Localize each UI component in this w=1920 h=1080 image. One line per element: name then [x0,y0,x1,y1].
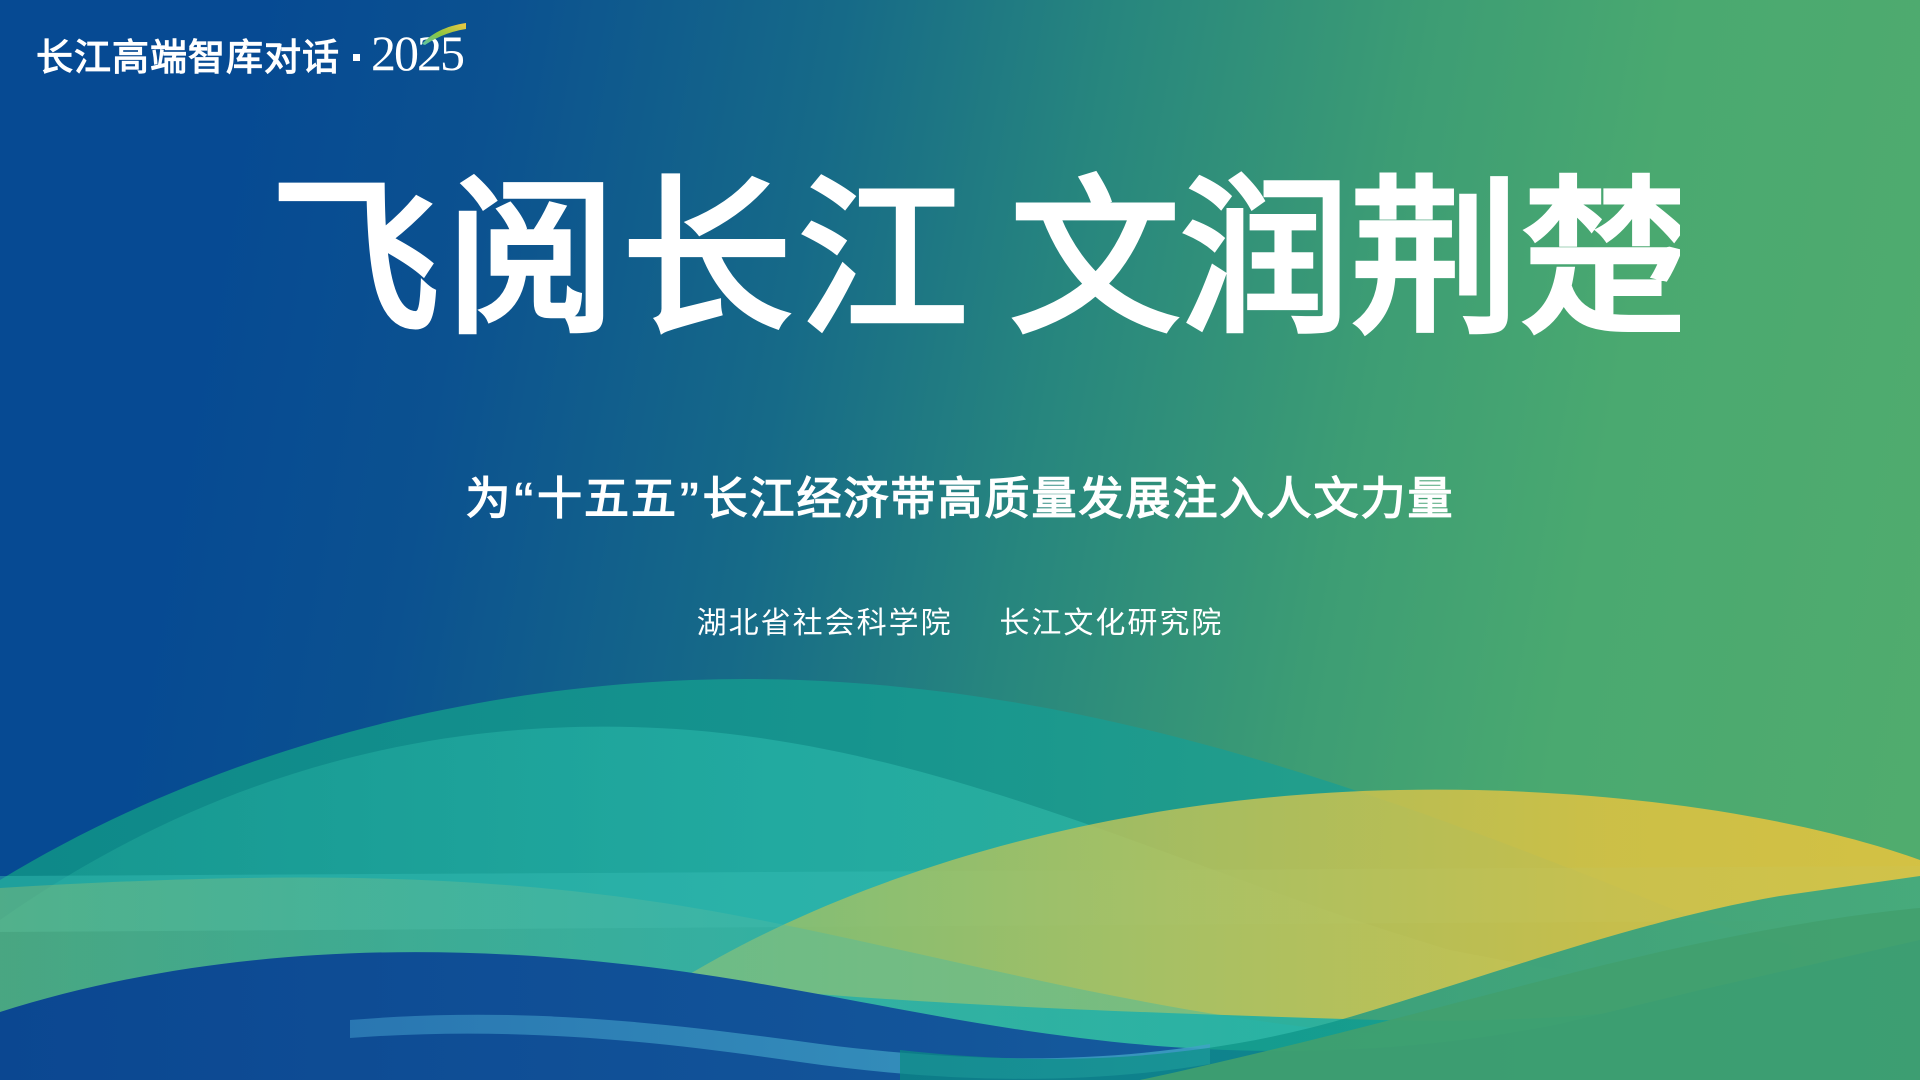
event-series-lockup: 长江高端智库对话 2025 [36,28,463,78]
calligraphy-artwork: 飞阅长江 文润荆楚 [240,150,1680,365]
event-year: 2025 [371,25,463,81]
main-title-calligraphy: 飞阅长江 文润荆楚 [0,150,1920,370]
wave-decoration [0,620,1920,1080]
calligraphy-group-b: 文润荆楚 [1010,159,1680,359]
wave-front-blue [0,940,1920,1080]
calligraphy-group-a: 飞阅长江 [270,159,974,359]
event-series-label: 长江高端智库对话 [36,39,340,76]
event-year-block: 2025 [371,28,463,78]
wave-back-teal [0,679,1920,1080]
subtitle-line: 为“十五五”长江经济带高质量发展注入人文力量 [0,472,1920,526]
organizer-line: 湖北省社会科学院 长江文化研究院 [0,598,1920,642]
wave-yellow-lens [680,790,1920,1021]
wave-front-teal [900,876,1920,1080]
poster-canvas: 长江高端智库对话 2025 飞阅长江 文润荆楚 为“十五五”长江经济带高 [0,0,1920,1080]
wave-ribbon-green [0,878,1920,1080]
wave-band-light [0,866,1920,932]
separator-dot [353,54,360,61]
organizer-secondary: 长江文化研究院 [999,607,1223,640]
organizer-primary: 湖北省社会科学院 [697,607,953,640]
wave-mid-teal [0,727,1920,1080]
wave-highlight-blue [350,1015,1210,1079]
wave-bottom-green [1140,908,1920,1080]
